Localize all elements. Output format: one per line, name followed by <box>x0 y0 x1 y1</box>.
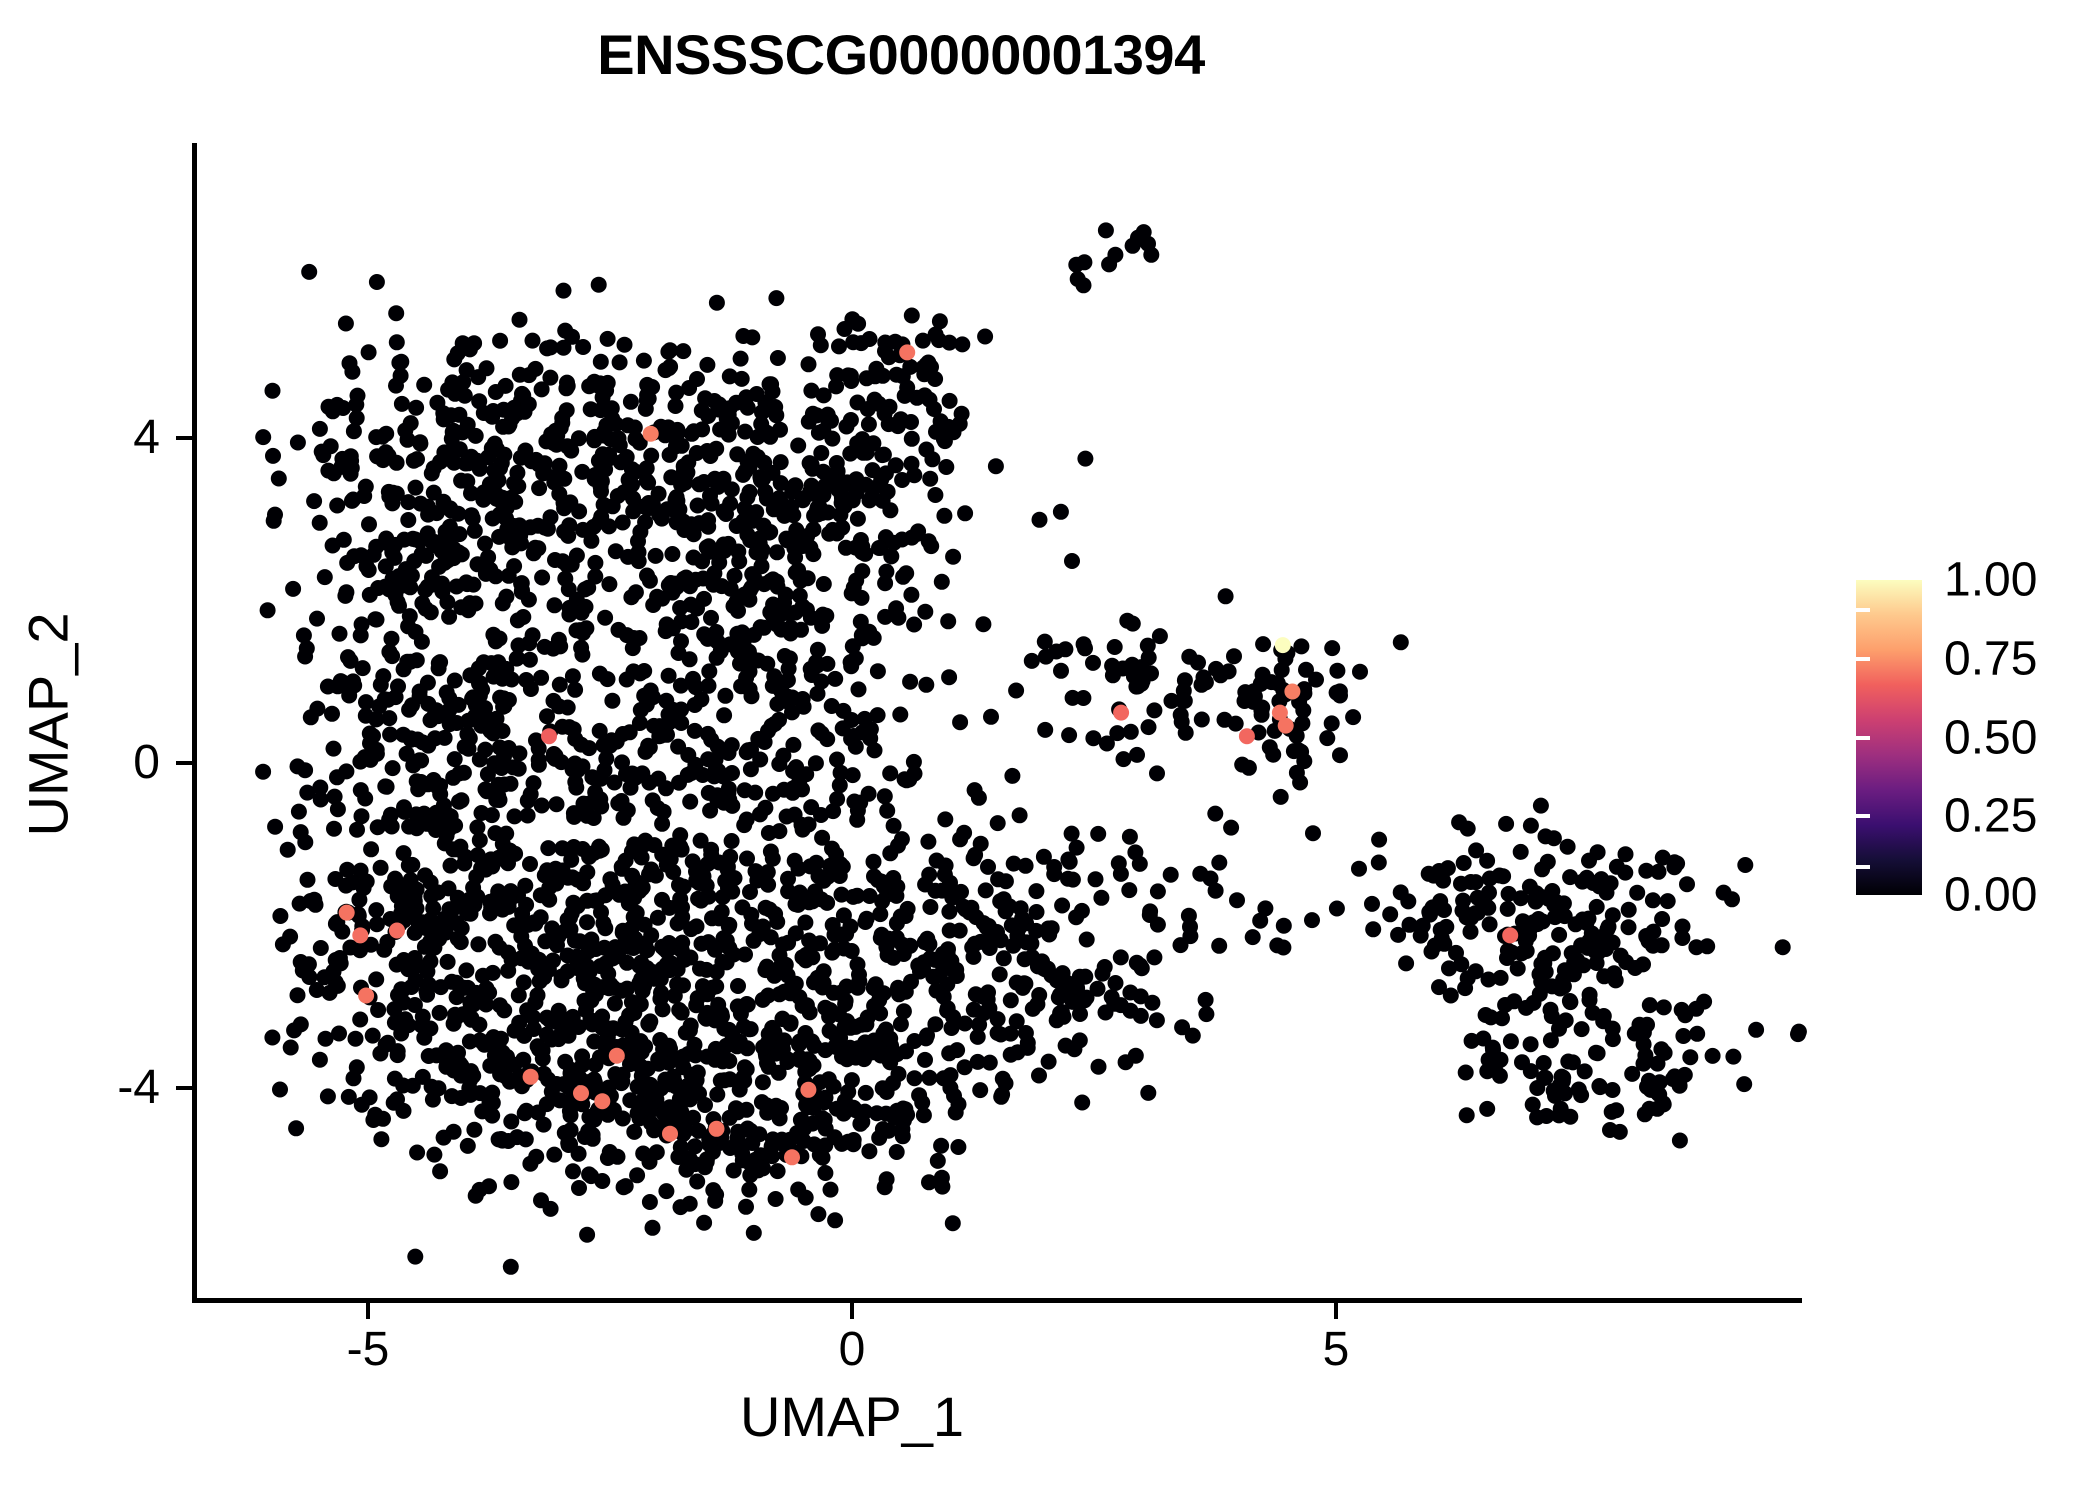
scatter-point <box>831 338 847 354</box>
scatter-point <box>1269 937 1285 953</box>
scatter-point <box>836 907 852 923</box>
scatter-point <box>492 740 508 756</box>
scatter-point <box>452 839 468 855</box>
scatter-point <box>435 918 451 934</box>
colorbar-label: 1.00 <box>1944 553 2037 608</box>
scatter-point <box>436 444 452 460</box>
scatter-point <box>800 1082 816 1098</box>
scatter-point <box>504 410 520 426</box>
scatter-point <box>639 568 655 584</box>
scatter-point <box>1621 919 1637 935</box>
scatter-point <box>483 655 499 671</box>
scatter-point <box>935 957 951 973</box>
scatter-point <box>756 455 772 471</box>
scatter-point <box>664 956 680 972</box>
scatter-point <box>586 810 602 826</box>
scatter-point <box>526 914 542 930</box>
scatter-point <box>848 1019 864 1035</box>
scatter-point <box>931 332 947 348</box>
scatter-point <box>1245 929 1261 945</box>
scatter-point <box>299 785 315 801</box>
scatter-point <box>1052 1005 1068 1021</box>
scatter-point <box>759 491 775 507</box>
scatter-point <box>502 843 518 859</box>
scatter-point <box>427 813 443 829</box>
scatter-point <box>318 1031 334 1047</box>
scatter-point <box>503 1259 519 1275</box>
scatter-point <box>424 569 440 585</box>
scatter-point <box>736 633 752 649</box>
scatter-point <box>491 488 507 504</box>
scatter-point <box>1402 917 1418 933</box>
scatter-point <box>438 1059 454 1075</box>
scatter-point <box>821 1009 837 1025</box>
scatter-point <box>768 1098 784 1114</box>
scatter-point <box>625 930 641 946</box>
scatter-point <box>661 1038 677 1054</box>
colorbar-tick-mark <box>1856 865 1870 869</box>
scatter-point <box>710 634 726 650</box>
scatter-point <box>883 548 899 564</box>
scatter-point <box>587 471 603 487</box>
scatter-point <box>708 1041 724 1057</box>
scatter-point <box>388 689 404 705</box>
scatter-point <box>1579 870 1595 886</box>
scatter-point <box>967 782 983 798</box>
scatter-point <box>689 1072 705 1088</box>
scatter-point <box>677 952 693 968</box>
scatter-point <box>789 540 805 556</box>
scatter-point <box>1014 910 1030 926</box>
scatter-point <box>474 1103 490 1119</box>
scatter-point <box>1136 224 1152 240</box>
scatter-point <box>409 652 425 668</box>
scatter-point <box>737 463 753 479</box>
scatter-point <box>333 955 349 971</box>
scatter-point <box>1024 653 1040 669</box>
scatter-point <box>444 974 460 990</box>
scatter-point <box>927 883 943 899</box>
scatter-point <box>871 396 887 412</box>
scatter-point <box>843 658 859 674</box>
scatter-point <box>601 1043 617 1059</box>
scatter-point <box>743 742 759 758</box>
scatter-point <box>390 1043 406 1059</box>
scatter-point <box>534 798 550 814</box>
scatter-point <box>710 763 726 779</box>
scatter-point <box>896 946 912 962</box>
scatter-point <box>563 1093 579 1109</box>
scatter-point <box>708 752 724 768</box>
scatter-point <box>523 519 539 535</box>
scatter-point <box>749 873 765 889</box>
colorbar-tick-mark <box>1856 736 1870 740</box>
scatter-point <box>419 964 435 980</box>
scatter-point <box>1682 1049 1698 1065</box>
scatter-point <box>593 904 609 920</box>
scatter-point <box>1481 972 1497 988</box>
scatter-point <box>621 472 637 488</box>
scatter-point <box>626 890 642 906</box>
scatter-point <box>597 462 613 478</box>
scatter-point <box>1352 664 1368 680</box>
scatter-point <box>413 774 429 790</box>
scatter-point <box>832 868 848 884</box>
scatter-point <box>447 1051 463 1067</box>
scatter-point <box>449 1058 465 1074</box>
scatter-point <box>546 746 562 762</box>
scatter-point <box>1455 893 1471 909</box>
scatter-point <box>719 933 735 949</box>
scatter-point <box>659 501 675 517</box>
scatter-point <box>609 734 625 750</box>
scatter-point <box>592 723 608 739</box>
scatter-point <box>699 443 715 459</box>
scatter-point <box>895 368 911 384</box>
scatter-point <box>578 599 594 615</box>
scatter-point <box>565 1009 581 1025</box>
scatter-point <box>337 904 353 920</box>
scatter-point <box>617 884 633 900</box>
scatter-point <box>502 1074 518 1090</box>
scatter-point <box>1019 934 1035 950</box>
scatter-point <box>578 620 594 636</box>
scatter-point <box>579 808 595 824</box>
scatter-point <box>1028 883 1044 899</box>
scatter-point <box>484 1108 500 1124</box>
scatter-point <box>783 1015 799 1031</box>
scatter-point <box>835 720 851 736</box>
scatter-point <box>412 752 428 768</box>
scatter-point <box>462 1034 478 1050</box>
scatter-point <box>706 768 722 784</box>
scatter-point <box>348 397 364 413</box>
scatter-point <box>1669 856 1685 872</box>
scatter-point <box>902 359 918 375</box>
scatter-point <box>1065 872 1081 888</box>
scatter-point <box>648 1101 664 1117</box>
scatter-point <box>280 842 296 858</box>
scatter-point <box>672 1091 688 1107</box>
scatter-point <box>490 888 506 904</box>
scatter-point <box>484 409 500 425</box>
scatter-point <box>684 765 700 781</box>
scatter-point <box>1364 896 1380 912</box>
scatter-point <box>877 1179 893 1195</box>
scatter-point <box>933 1138 949 1154</box>
scatter-point <box>995 1071 1011 1087</box>
scatter-point <box>896 1003 912 1019</box>
scatter-point <box>533 670 549 686</box>
scatter-point <box>368 971 384 987</box>
scatter-point <box>1182 919 1198 935</box>
scatter-point <box>531 1041 547 1057</box>
scatter-point <box>830 482 846 498</box>
scatter-point <box>774 957 790 973</box>
scatter-point <box>518 1103 534 1119</box>
scatter-point <box>490 883 506 899</box>
scatter-point <box>760 723 776 739</box>
scatter-point <box>768 1046 784 1062</box>
scatter-point <box>621 895 637 911</box>
scatter-point <box>1548 894 1564 910</box>
scatter-point <box>701 544 717 560</box>
scatter-point <box>405 1078 421 1094</box>
scatter-point <box>585 1131 601 1147</box>
scatter-point <box>466 1122 482 1138</box>
scatter-point <box>579 864 595 880</box>
scatter-point <box>300 872 316 888</box>
scatter-point <box>1562 993 1578 1009</box>
scatter-point <box>689 445 705 461</box>
scatter-point <box>458 962 474 978</box>
scatter-point <box>1101 256 1117 272</box>
scatter-point <box>668 398 684 414</box>
scatter-point <box>574 605 590 621</box>
scatter-point <box>313 940 329 956</box>
scatter-point <box>490 654 506 670</box>
scatter-point <box>662 1126 678 1142</box>
scatter-point <box>357 791 373 807</box>
scatter-point <box>579 893 595 909</box>
scatter-point <box>1272 711 1288 727</box>
scatter-point <box>641 391 657 407</box>
scatter-point <box>369 274 385 290</box>
scatter-point <box>687 723 703 739</box>
scatter-point <box>462 1087 478 1103</box>
scatter-point <box>1113 866 1129 882</box>
scatter-point <box>783 626 799 642</box>
scatter-point <box>1492 868 1508 884</box>
scatter-point <box>641 1017 657 1033</box>
scatter-point <box>801 817 817 833</box>
scatter-point <box>448 915 464 931</box>
scatter-point <box>893 412 909 428</box>
scatter-point <box>857 711 873 727</box>
scatter-point <box>1237 684 1253 700</box>
scatter-point <box>431 660 447 676</box>
scatter-point <box>709 964 725 980</box>
scatter-point <box>340 649 356 665</box>
scatter-point <box>1077 451 1093 467</box>
scatter-point <box>387 537 403 553</box>
scatter-point <box>396 532 412 548</box>
scatter-point <box>1551 1021 1567 1037</box>
scatter-point <box>306 892 322 908</box>
scatter-point <box>639 473 655 489</box>
scatter-point <box>1790 1026 1806 1042</box>
scatter-point <box>349 822 365 838</box>
scatter-point <box>365 1028 381 1044</box>
scatter-point <box>565 1163 581 1179</box>
scatter-point <box>569 954 585 970</box>
scatter-point <box>875 368 891 384</box>
scatter-point <box>812 1093 828 1109</box>
scatter-point <box>389 334 405 350</box>
scatter-point <box>509 650 525 666</box>
scatter-point <box>984 925 1000 941</box>
scatter-point <box>530 987 546 1003</box>
scatter-point <box>1278 718 1294 734</box>
scatter-point <box>468 869 484 885</box>
scatter-point <box>839 1051 855 1067</box>
scatter-point <box>849 888 865 904</box>
scatter-point <box>791 774 807 790</box>
scatter-point <box>838 926 854 942</box>
scatter-point <box>605 877 621 893</box>
scatter-point <box>515 1052 531 1068</box>
scatter-point <box>1651 1087 1667 1103</box>
scatter-point <box>1116 751 1132 767</box>
scatter-point <box>779 809 795 825</box>
scatter-point <box>438 925 454 941</box>
scatter-point <box>690 498 706 514</box>
scatter-point <box>708 624 724 640</box>
scatter-point <box>1617 865 1633 881</box>
scatter-point <box>760 877 776 893</box>
scatter-point <box>335 400 351 416</box>
scatter-point <box>468 428 484 444</box>
scatter-point <box>290 758 306 774</box>
scatter-point <box>533 1192 549 1208</box>
scatter-point <box>492 506 508 522</box>
scatter-point <box>561 607 577 623</box>
scatter-point <box>433 979 449 995</box>
scatter-point <box>556 340 572 356</box>
scatter-point <box>406 553 422 569</box>
scatter-point <box>776 782 792 798</box>
scatter-point <box>922 951 938 967</box>
scatter-point <box>662 359 678 375</box>
scatter-point <box>806 508 822 524</box>
scatter-point <box>445 423 461 439</box>
scatter-point <box>481 985 497 1001</box>
scatter-point <box>795 492 811 508</box>
scatter-point <box>489 491 505 507</box>
scatter-point <box>453 1058 469 1074</box>
scatter-point <box>451 794 467 810</box>
scatter-point <box>795 538 811 554</box>
scatter-point <box>634 765 650 781</box>
scatter-point <box>777 648 793 664</box>
scatter-point <box>576 971 592 987</box>
scatter-point <box>844 311 860 327</box>
scatter-point <box>431 931 447 947</box>
scatter-point <box>697 1010 713 1026</box>
scatter-point <box>1547 909 1563 925</box>
scatter-point <box>625 491 641 507</box>
scatter-point <box>1552 981 1568 997</box>
scatter-point <box>678 1162 694 1178</box>
scatter-point <box>463 449 479 465</box>
scatter-point <box>338 763 354 779</box>
scatter-point <box>1618 954 1634 970</box>
scatter-point <box>748 863 764 879</box>
scatter-point <box>805 893 821 909</box>
scatter-point <box>685 671 701 687</box>
scatter-point <box>537 639 553 655</box>
scatter-point <box>720 785 736 801</box>
scatter-point <box>804 457 820 473</box>
scatter-point <box>895 1102 911 1118</box>
scatter-point <box>1017 976 1033 992</box>
scatter-point <box>726 598 742 614</box>
scatter-point <box>450 345 466 361</box>
scatter-point <box>416 806 432 822</box>
scatter-point <box>1286 743 1302 759</box>
scatter-point <box>1585 875 1601 891</box>
scatter-point <box>361 562 377 578</box>
scatter-point <box>740 454 756 470</box>
scatter-point <box>573 640 589 656</box>
scatter-point <box>1608 972 1624 988</box>
scatter-point <box>706 393 722 409</box>
scatter-point <box>835 703 851 719</box>
scatter-point <box>266 513 282 529</box>
scatter-point <box>829 367 845 383</box>
scatter-point <box>736 513 752 529</box>
scatter-point <box>607 939 623 955</box>
scatter-point <box>470 556 486 572</box>
scatter-point <box>919 362 935 378</box>
scatter-point <box>460 1138 476 1154</box>
scatter-point <box>582 1012 598 1028</box>
scatter-point <box>700 631 716 647</box>
scatter-point <box>640 500 656 516</box>
scatter-point <box>898 908 914 924</box>
scatter-point <box>839 419 855 435</box>
scatter-point <box>717 688 733 704</box>
scatter-point <box>537 520 553 536</box>
scatter-point <box>1457 980 1473 996</box>
scatter-point <box>634 850 650 866</box>
scatter-point <box>940 613 956 629</box>
scatter-point <box>1605 935 1621 951</box>
scatter-point <box>577 993 593 1009</box>
scatter-point <box>290 987 306 1003</box>
scatter-point <box>770 350 786 366</box>
scatter-point <box>1533 956 1549 972</box>
scatter-point <box>829 752 845 768</box>
scatter-point <box>975 616 991 632</box>
scatter-point <box>593 483 609 499</box>
scatter-point <box>735 899 751 915</box>
scatter-point <box>594 1093 610 1109</box>
scatter-point <box>382 485 398 501</box>
scatter-point <box>385 760 401 776</box>
scatter-point <box>1543 1002 1559 1018</box>
scatter-point <box>753 1147 769 1163</box>
scatter-point <box>593 354 609 370</box>
scatter-point <box>998 873 1014 889</box>
scatter-point <box>1069 980 1085 996</box>
scatter-point <box>1393 884 1409 900</box>
scatter-point <box>470 693 486 709</box>
scatter-point <box>1213 667 1229 683</box>
scatter-point <box>544 1032 560 1048</box>
scatter-point <box>420 696 436 712</box>
scatter-point <box>477 536 493 552</box>
scatter-point <box>771 712 787 728</box>
scatter-point <box>1049 1012 1065 1028</box>
scatter-point <box>388 924 404 940</box>
scatter-point <box>352 754 368 770</box>
scatter-point <box>537 455 553 471</box>
scatter-point <box>676 522 692 538</box>
scatter-point <box>541 880 557 896</box>
scatter-point <box>739 1061 755 1077</box>
scatter-point <box>944 1020 960 1036</box>
